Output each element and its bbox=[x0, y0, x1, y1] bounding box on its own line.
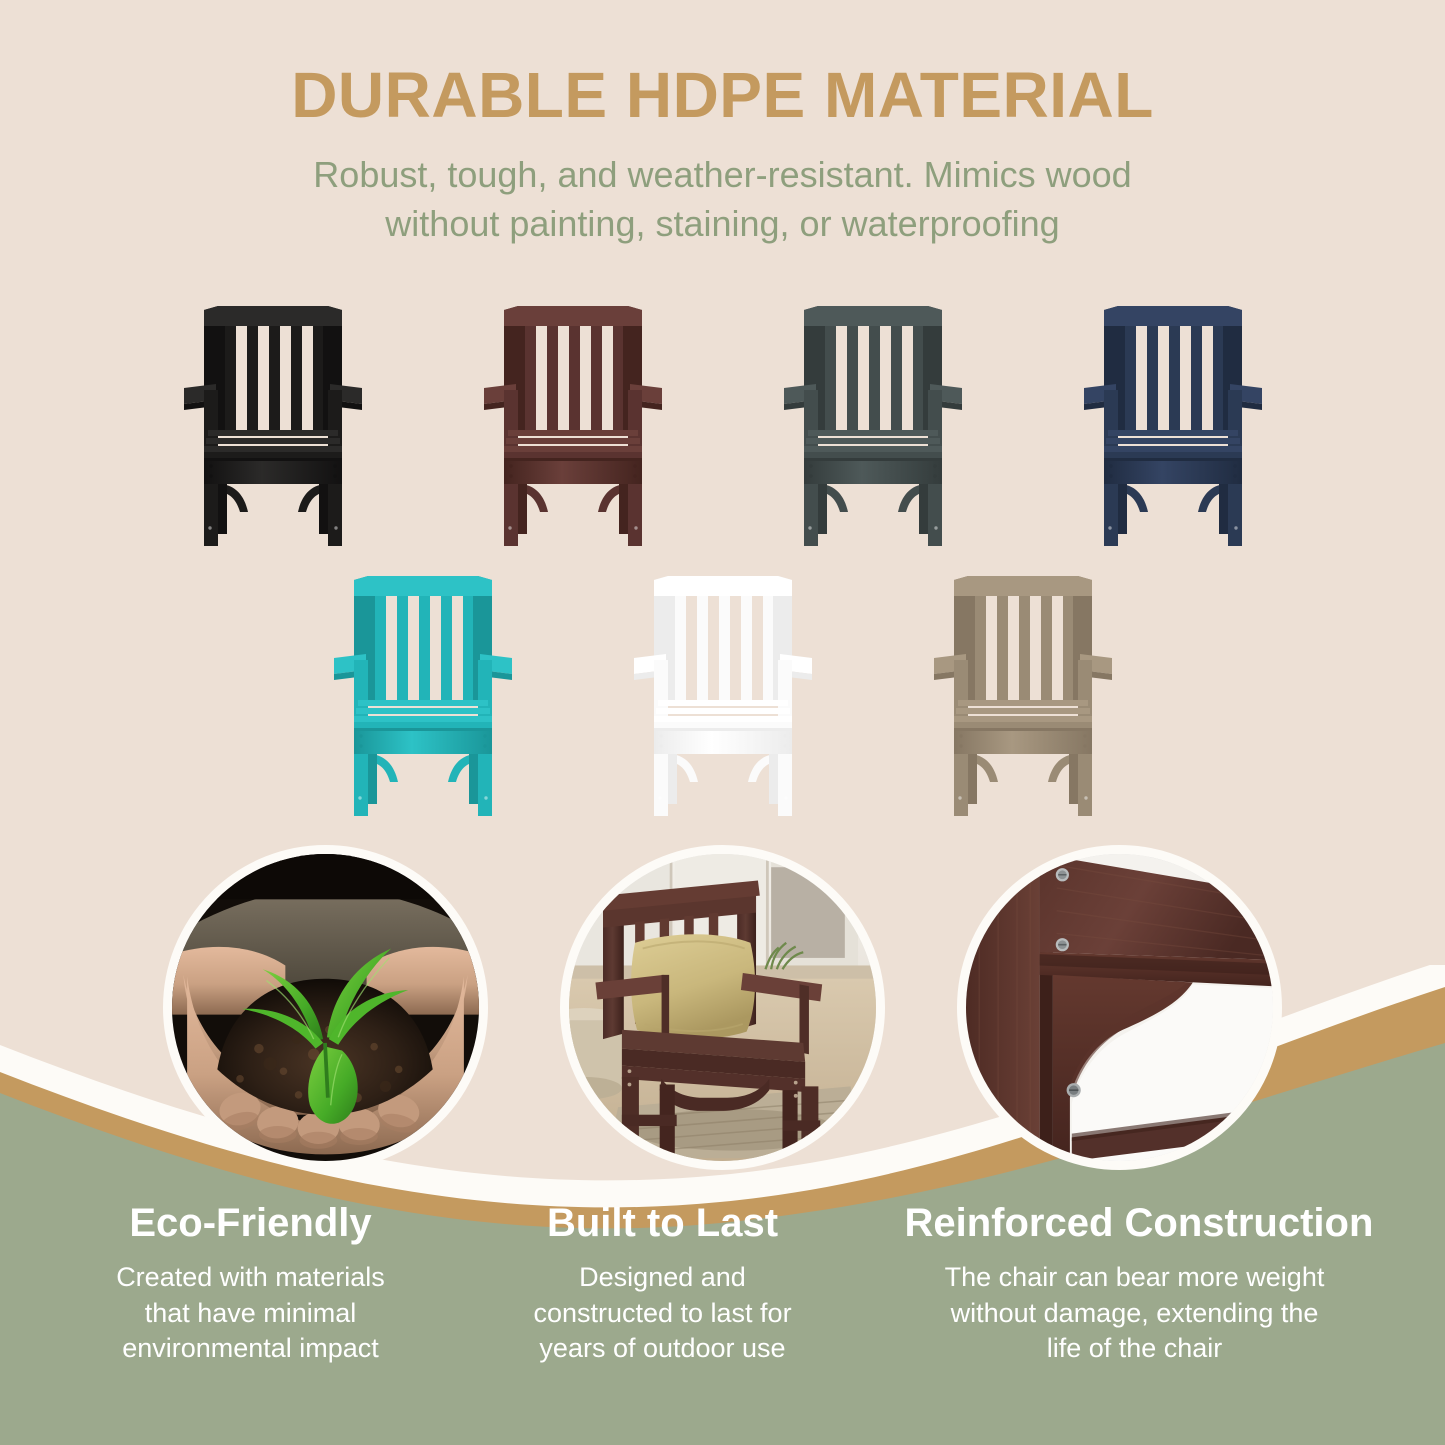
feature-description: The chair can bear more weight without d… bbox=[905, 1260, 1365, 1367]
subtitle-line-2: without painting, staining, or waterproo… bbox=[0, 200, 1445, 249]
feature-desc-line: years of outdoor use bbox=[493, 1331, 833, 1367]
page-subtitle: Robust, tough, and weather-resistant. Mi… bbox=[0, 151, 1445, 248]
feature-reinforced-construction: Reinforced Construction The chair can be… bbox=[905, 1200, 1365, 1367]
feature-desc-line: The chair can bear more weight bbox=[905, 1260, 1365, 1296]
feature-desc-line: that have minimal bbox=[81, 1296, 421, 1332]
feature-eco-friendly: Eco-Friendly Created with materials that… bbox=[81, 1200, 421, 1367]
feature-desc-line: Created with materials bbox=[81, 1260, 421, 1296]
infographic-canvas: DURABLE HDPE MATERIAL Robust, tough, and… bbox=[0, 0, 1445, 1445]
chair-row-2 bbox=[0, 570, 1445, 820]
chair-illustration bbox=[778, 300, 968, 550]
feature-description: Created with materials that have minimal… bbox=[81, 1260, 421, 1367]
hands-holding-soil-seedling-icon bbox=[172, 854, 479, 1161]
chair-joint-screws-closeup-icon bbox=[966, 854, 1273, 1161]
chair-illustration bbox=[628, 570, 818, 820]
feature-desc-line: environmental impact bbox=[81, 1331, 421, 1367]
feature-title: Eco-Friendly bbox=[81, 1200, 421, 1246]
eco-friendly-photo bbox=[163, 845, 488, 1170]
feature-desc-line: without damage, extending the bbox=[905, 1296, 1365, 1332]
chair-swatch-navy-blue[interactable] bbox=[1078, 300, 1268, 550]
brown-patio-chair-with-pillow-icon bbox=[569, 854, 876, 1161]
chair-illustration bbox=[328, 570, 518, 820]
chair-swatch-weathered-wood[interactable] bbox=[928, 570, 1118, 820]
chair-swatch-white[interactable] bbox=[628, 570, 818, 820]
chair-swatch-black[interactable] bbox=[178, 300, 368, 550]
chair-illustration bbox=[178, 300, 368, 550]
chair-illustration bbox=[928, 570, 1118, 820]
page-title: DURABLE HDPE MATERIAL bbox=[0, 62, 1445, 129]
feature-desc-line: Designed and bbox=[493, 1260, 833, 1296]
chair-illustration bbox=[478, 300, 668, 550]
chair-illustration bbox=[1078, 300, 1268, 550]
feature-title: Built to Last bbox=[493, 1200, 833, 1246]
chair-swatch-brown[interactable] bbox=[478, 300, 668, 550]
chair-swatch-dark-gray[interactable] bbox=[778, 300, 968, 550]
built-to-last-photo bbox=[560, 845, 885, 1170]
feature-built-to-last: Built to Last Designed and constructed t… bbox=[493, 1200, 833, 1367]
feature-photo-row bbox=[0, 845, 1445, 1170]
chair-row-1 bbox=[0, 300, 1445, 550]
reinforced-construction-photo bbox=[957, 845, 1282, 1170]
feature-title: Reinforced Construction bbox=[905, 1200, 1365, 1246]
chair-color-gallery bbox=[0, 300, 1445, 820]
feature-description: Designed and constructed to last for yea… bbox=[493, 1260, 833, 1367]
header: DURABLE HDPE MATERIAL Robust, tough, and… bbox=[0, 62, 1445, 248]
feature-desc-line: life of the chair bbox=[905, 1331, 1365, 1367]
chair-swatch-teal[interactable] bbox=[328, 570, 518, 820]
feature-desc-line: constructed to last for bbox=[493, 1296, 833, 1332]
subtitle-line-1: Robust, tough, and weather-resistant. Mi… bbox=[0, 151, 1445, 200]
feature-caption-row: Eco-Friendly Created with materials that… bbox=[0, 1200, 1445, 1367]
